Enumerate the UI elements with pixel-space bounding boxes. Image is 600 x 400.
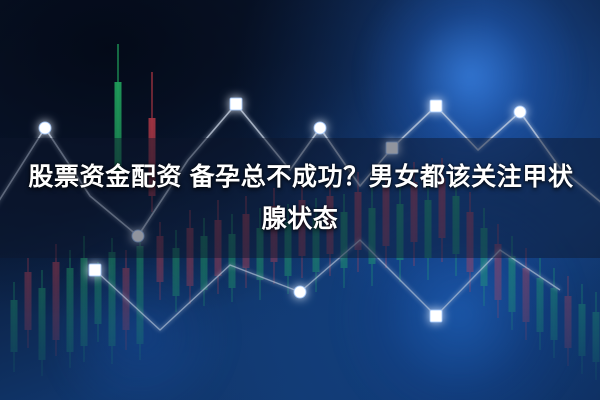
trendline-node-circle [294,286,306,298]
trendline-node-square [230,98,242,110]
candle-body [537,278,544,332]
candle-body [25,272,32,330]
banner-image: 股票资金配资 备孕总不成功？男女都该关注甲状 腺状态 [0,0,600,400]
candle-body [551,288,558,340]
trendline-node-square [430,310,442,322]
trendline-node-circle [514,106,526,118]
candle-body [523,268,530,322]
trendline-node-circle [39,122,51,134]
candle-body [565,296,572,348]
candle-body [39,288,46,360]
candle-body [81,258,88,346]
candle-body [109,252,116,346]
candle-body [53,262,60,340]
candle-body [137,246,144,344]
candle-body [95,276,102,324]
candle-body [579,304,586,356]
trendline-node-square [430,100,442,112]
headline-block: 股票资金配资 备孕总不成功？男女都该关注甲状 腺状态 [0,138,600,258]
trendline-node-circle [314,122,326,134]
headline-line-2: 腺状态 [262,199,339,239]
headline-line-1: 股票资金配资 备孕总不成功？男女都该关注甲状 [26,157,573,197]
trendline-node-square [89,264,101,276]
candle-body [509,256,516,312]
candle-body [67,268,74,352]
candle-body [11,300,18,352]
candle-body [593,312,600,362]
